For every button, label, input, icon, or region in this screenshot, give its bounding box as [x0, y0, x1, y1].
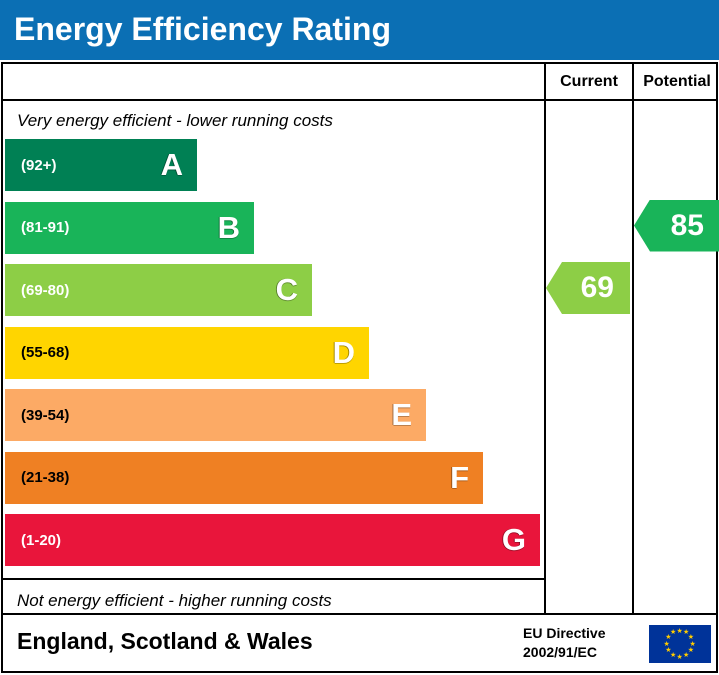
eu-flag-star: ★: [665, 647, 671, 654]
current-rating-value: 69: [581, 271, 614, 305]
eu-directive-line2: 2002/91/EC: [523, 643, 643, 662]
band-letter-label: G: [502, 522, 530, 558]
band-range-label: (1-20): [21, 532, 61, 549]
divider-potential: [632, 64, 634, 613]
current-rating-marker: 69: [546, 262, 630, 314]
band-range-label: (21-38): [21, 469, 69, 486]
eu-flag-star: ★: [677, 654, 683, 661]
eu-flag-star: ★: [683, 652, 689, 659]
potential-rating-marker: 85: [634, 200, 719, 252]
rating-band-c: (69-80)C: [5, 264, 312, 316]
potential-rating-value: 85: [671, 209, 704, 243]
rating-band-f: (21-38)F: [5, 452, 483, 504]
band-letter-label: B: [218, 210, 244, 246]
eu-flag-star: ★: [677, 628, 683, 635]
band-letter-label: D: [333, 335, 359, 371]
band-range-label: (69-80): [21, 282, 69, 299]
divider-current: [544, 64, 546, 613]
eu-directive-line1: EU Directive: [523, 624, 643, 643]
band-letter-label: A: [161, 147, 187, 183]
chart-title-bar: Energy Efficiency Rating: [0, 0, 719, 60]
epc-certificate-chart: Energy Efficiency Rating Current Potenti…: [0, 0, 719, 675]
band-letter-label: C: [276, 272, 302, 308]
band-range-label: (55-68): [21, 344, 69, 361]
band-letter-label: F: [450, 460, 473, 496]
rating-band-a: (92+)A: [5, 139, 197, 191]
eu-flag-icon: ★★★★★★★★★★★★: [649, 625, 711, 663]
column-header-potential: Potential: [634, 73, 719, 91]
rating-band-d: (55-68)D: [5, 327, 369, 379]
band-range-label: (92+): [21, 157, 56, 174]
eu-flag-star: ★: [664, 641, 670, 648]
rating-band-b: (81-91)B: [5, 202, 254, 254]
caption-inefficient: Not energy efficient - higher running co…: [17, 591, 332, 611]
band-letter-label: E: [391, 397, 416, 433]
page-title: Energy Efficiency Rating: [14, 11, 391, 48]
caption-efficient: Very energy efficient - lower running co…: [17, 111, 333, 131]
band-range-label: (39-54): [21, 407, 69, 424]
divider-bottom-caption: [3, 578, 544, 580]
column-header-current: Current: [546, 73, 632, 91]
rating-bands: (92+)A(81-91)B(69-80)C(55-68)D(39-54)E(2…: [5, 139, 542, 576]
chart-body: Current Potential Very energy efficient …: [1, 62, 718, 615]
eu-flag-star: ★: [670, 629, 676, 636]
chart-footer: England, Scotland & Wales EU Directive 2…: [1, 615, 718, 673]
eu-directive-label: EU Directive 2002/91/EC: [523, 624, 643, 662]
footer-region-label: England, Scotland & Wales: [17, 628, 313, 655]
band-range-label: (81-91): [21, 219, 69, 236]
rating-band-g: (1-20)G: [5, 514, 540, 566]
rating-band-e: (39-54)E: [5, 389, 426, 441]
